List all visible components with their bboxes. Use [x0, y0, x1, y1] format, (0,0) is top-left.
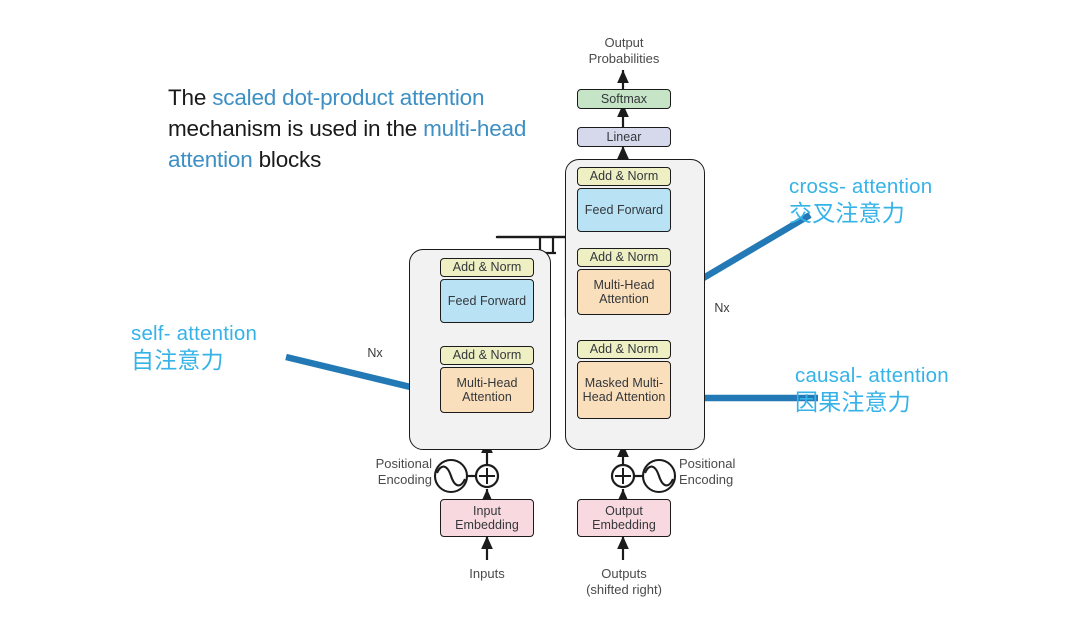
decoder-cross-attention-label: Multi-Head Attention: [578, 278, 670, 307]
decoder-masked-attention: Masked Multi-Head Attention: [577, 361, 671, 419]
headline-part-2: mechanism is used in the: [168, 116, 423, 141]
decoder-add-norm-top: Add & Norm: [577, 167, 671, 186]
linear-label: Linear: [606, 130, 641, 145]
decoder-add-norm-mid-label: Add & Norm: [590, 250, 659, 265]
decoder-add-norm-top-label: Add & Norm: [590, 169, 659, 184]
slide-canvas: The scaled dot-product attention mechani…: [0, 0, 1080, 617]
self-attention-annotation: self- attention 自注意力: [131, 320, 257, 374]
decoder-feed-forward: Feed Forward: [577, 188, 671, 232]
decoder-add-norm-mid: Add & Norm: [577, 248, 671, 267]
causal-attention-zh: 因果注意力: [795, 389, 949, 416]
output-positional-encoding-label: Positional Encoding: [679, 456, 763, 488]
decoder-repeat-label: Nx: [705, 300, 739, 316]
causal-attention-en: causal- attention: [795, 362, 949, 389]
input-embedding: Input Embedding: [440, 499, 534, 537]
decoder-add-norm-bottom-label: Add & Norm: [590, 342, 659, 357]
softmax-layer: Softmax: [577, 89, 671, 109]
decoder-masked-attention-label: Masked Multi-Head Attention: [578, 376, 670, 405]
headline-part-1: The: [168, 85, 212, 110]
encoder-add-norm-top: Add & Norm: [440, 258, 534, 277]
input-embedding-label: Input Embedding: [441, 504, 533, 533]
outputs-label: Outputs (shifted right): [566, 566, 682, 598]
inputs-label: Inputs: [445, 566, 529, 582]
softmax-label: Softmax: [601, 92, 647, 107]
input-positional-encoding-label: Positional Encoding: [348, 456, 432, 488]
encoder-repeat-label: Nx: [358, 345, 392, 361]
encoder-attention-label: Multi-Head Attention: [441, 376, 533, 405]
output-embedding: Output Embedding: [577, 499, 671, 537]
encoder-multi-head-attention: Multi-Head Attention: [440, 367, 534, 413]
encoder-feed-forward-label: Feed Forward: [448, 294, 526, 309]
headline-accent-1: scaled dot-product attention: [212, 85, 484, 110]
self-attention-en: self- attention: [131, 320, 257, 347]
linear-layer: Linear: [577, 127, 671, 147]
encoder-feed-forward: Feed Forward: [440, 279, 534, 323]
cross-attention-annotation: cross- attention 交叉注意力: [789, 173, 932, 227]
decoder-add-norm-bottom: Add & Norm: [577, 340, 671, 359]
encoder-add-norm-top-label: Add & Norm: [453, 260, 522, 275]
headline-part-3: blocks: [253, 147, 322, 172]
encoder-add-norm-bottom-label: Add & Norm: [453, 348, 522, 363]
encoder-add-norm-bottom: Add & Norm: [440, 346, 534, 365]
self-attention-zh: 自注意力: [131, 347, 257, 374]
decoder-feed-forward-label: Feed Forward: [585, 203, 663, 218]
causal-attention-annotation: causal- attention 因果注意力: [795, 362, 949, 416]
page-title: The scaled dot-product attention mechani…: [168, 82, 598, 175]
cross-attention-en: cross- attention: [789, 173, 932, 200]
output-probabilities-label: Output Probabilities: [573, 35, 675, 67]
cross-attention-zh: 交叉注意力: [789, 200, 932, 227]
decoder-cross-attention: Multi-Head Attention: [577, 269, 671, 315]
output-embedding-label: Output Embedding: [578, 504, 670, 533]
